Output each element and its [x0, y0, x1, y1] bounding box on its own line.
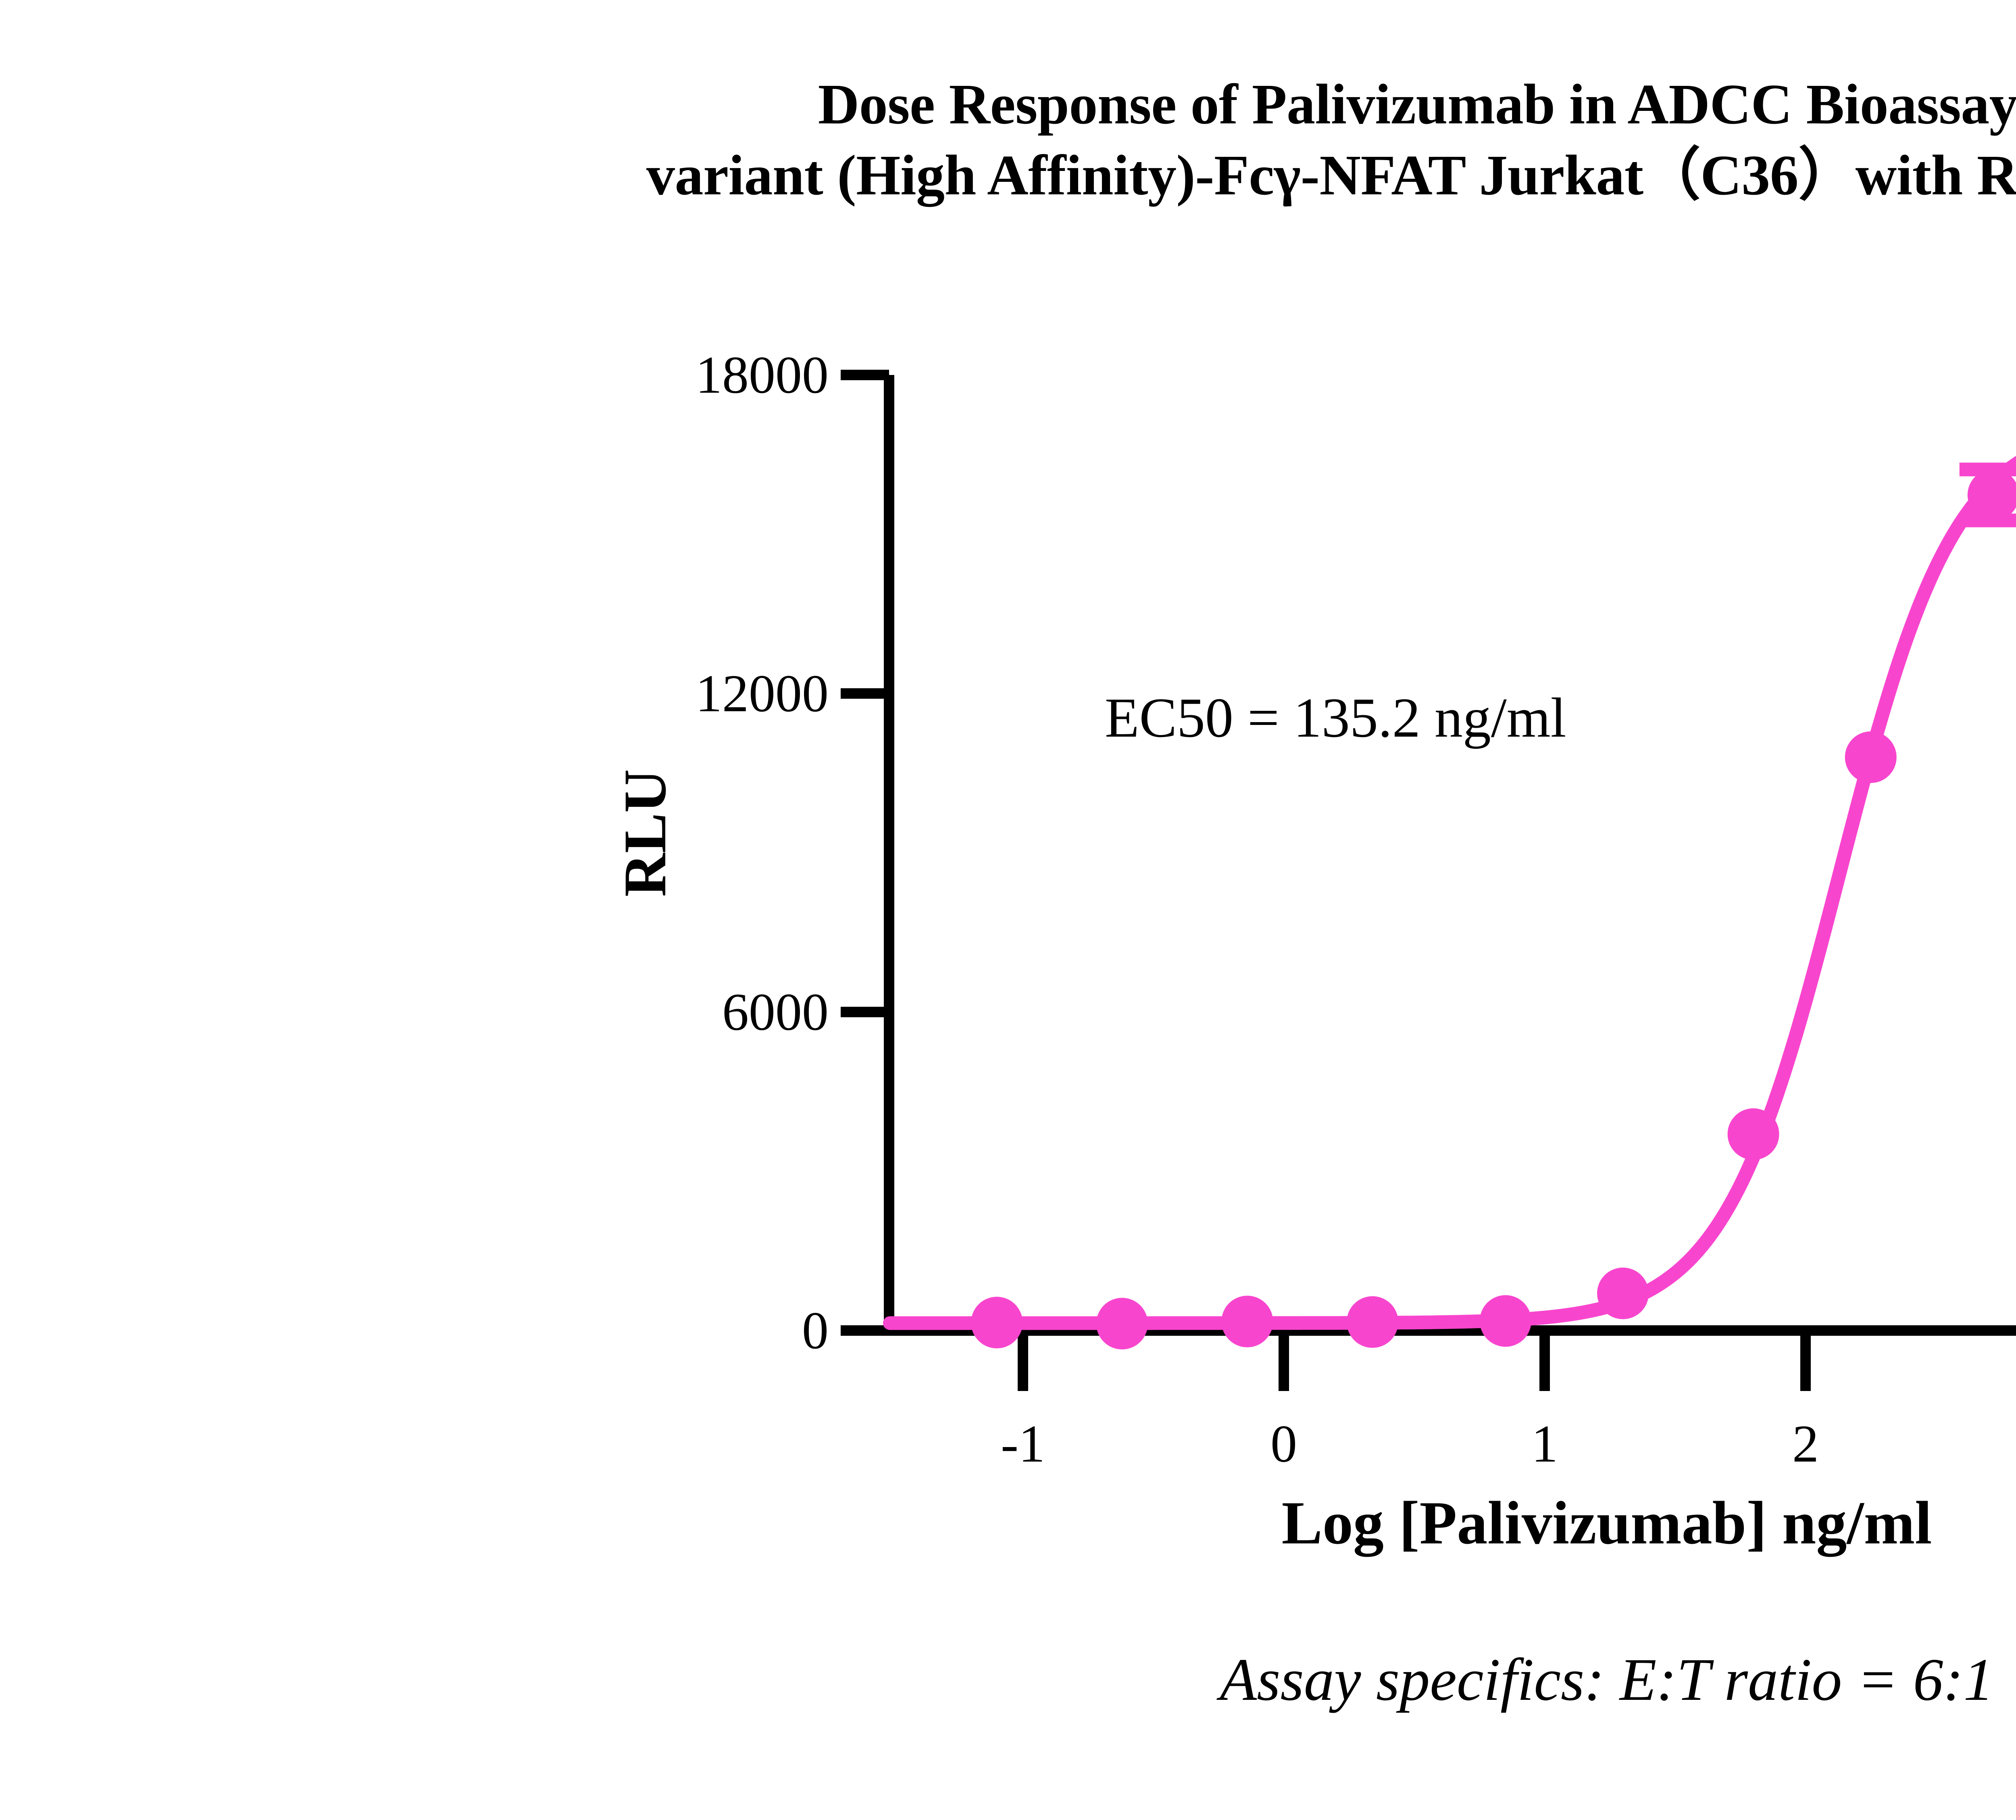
- y-tick-label-6000: 6000: [0, 985, 829, 1039]
- ec50-annotation: EC50 = 135.2 ng/ml: [1105, 685, 1566, 750]
- assay-caption: Assay specifics: E:T ratio = 6:1: [0, 1645, 2016, 1714]
- y-tick-label-12000: 12000: [0, 667, 829, 720]
- fit-curve: [890, 423, 2016, 1323]
- y-tick-label-0: 0: [0, 1304, 829, 1357]
- data-points: [971, 378, 2016, 1349]
- figure-root: Dose Response of Palivizumab in ADCC Bio…: [0, 0, 2016, 1820]
- x-tick-label-0: 0: [1270, 1417, 1297, 1470]
- x-axis-title: Log [Palivizumab] ng/ml: [0, 1488, 2016, 1558]
- x-tick-label-neg1: -1: [1001, 1417, 1045, 1470]
- plot-area: 0 6000 12000 18000 -1 0 1 2 3 4 RLU Log …: [0, 0, 2016, 1820]
- y-axis-title: RLU: [610, 712, 680, 954]
- x-tick-label-2: 2: [1792, 1417, 1819, 1470]
- x-tick-label-1: 1: [1531, 1417, 1558, 1470]
- y-tick-label-18000: 18000: [0, 348, 829, 402]
